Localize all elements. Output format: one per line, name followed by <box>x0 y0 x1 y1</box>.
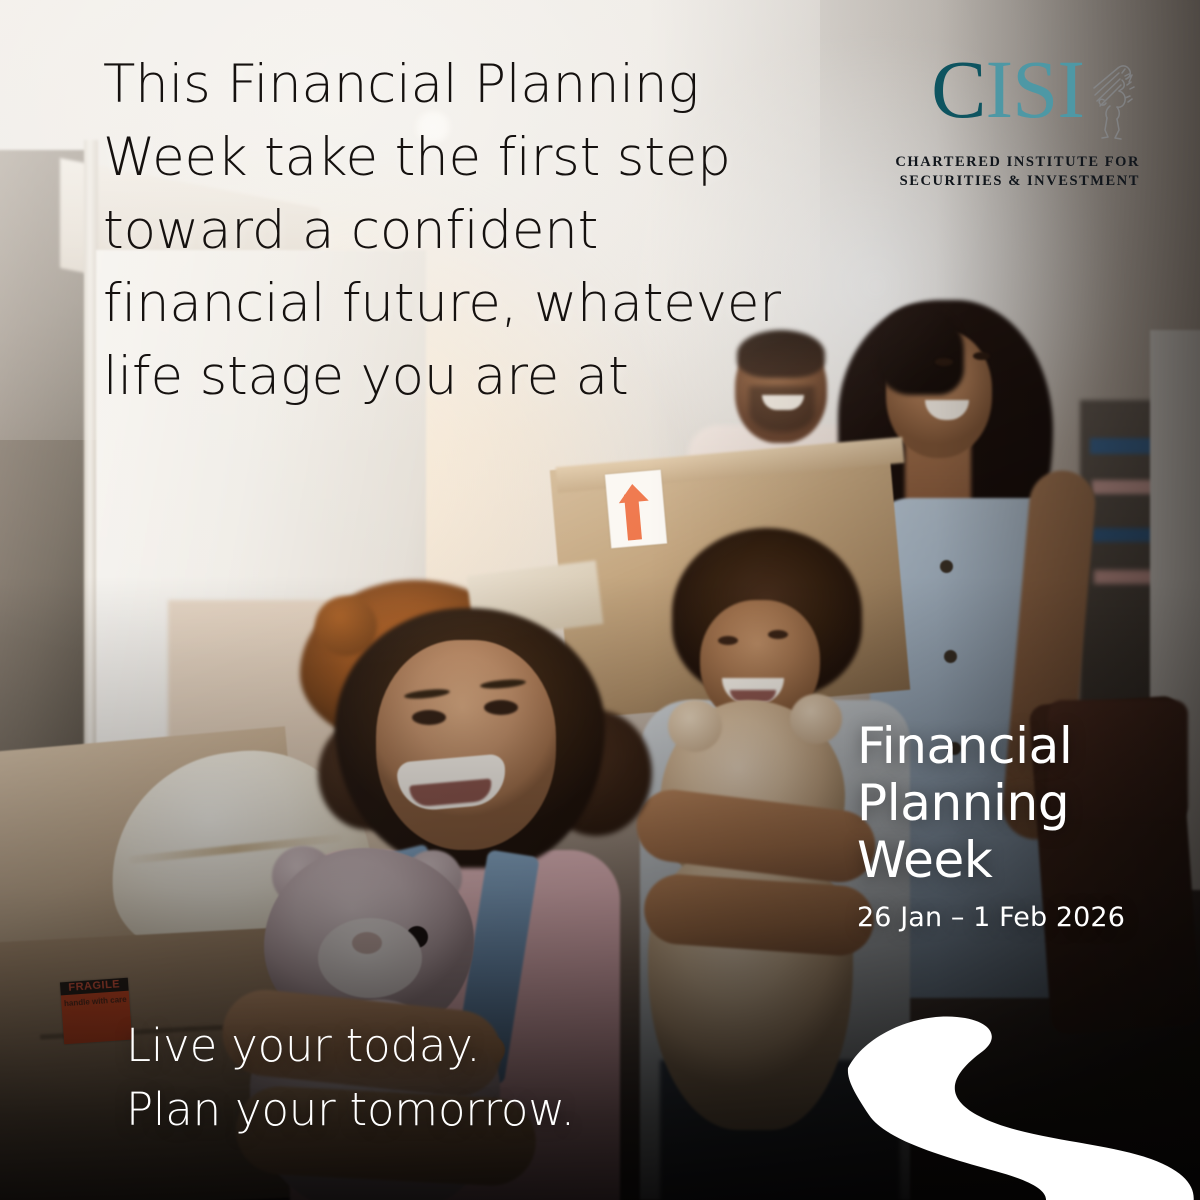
this-way-up-arrow-head-icon <box>617 483 648 504</box>
grey-teddy-muzzle <box>318 918 422 998</box>
fragile-sticker: FRAGILE handle with care <box>60 978 132 1045</box>
cisi-letter-c: C <box>931 43 985 135</box>
cisi-logo-subtitle: CHARTERED INSTITUTE FOR SECURITIES & INV… <box>840 153 1140 191</box>
cisi-letters-isi: ISI <box>986 43 1084 135</box>
headline: This Financial Planning Week take the fi… <box>103 48 803 413</box>
fragile-sticker-subtitle: handle with care <box>61 995 130 1010</box>
winding-path-icon <box>845 985 1200 1200</box>
dress-button-1 <box>940 560 953 573</box>
mother-hair-front <box>876 305 964 395</box>
girl-face <box>376 640 556 850</box>
dress-button-2 <box>944 650 957 663</box>
cisi-wordmark: CISI <box>931 50 1084 130</box>
campaign-lockup: Financial Planning Week 26 Jan – 1 Feb 2… <box>857 718 1187 934</box>
mother-eye-left <box>935 358 953 366</box>
griffin-icon <box>1092 54 1140 146</box>
girl-eye-right <box>484 700 518 715</box>
girl-eye-left <box>412 710 446 725</box>
mother-eye-right <box>973 352 990 360</box>
grey-teddy-nose <box>352 932 382 954</box>
cisi-logo[interactable]: CISI <box>840 50 1140 191</box>
tan-teddy-ear-right <box>790 694 842 744</box>
tan-teddy-ear-left <box>668 700 722 752</box>
boy-eye-right <box>768 630 788 639</box>
boy-eye-left <box>718 636 738 645</box>
campaign-title: Financial Planning Week <box>857 718 1187 889</box>
financial-planning-week-poster: FRAGILE handle with care <box>0 0 1200 1200</box>
campaign-dates: 26 Jan – 1 Feb 2026 <box>857 902 1187 934</box>
tagline: Live your today. Plan your tomorrow. <box>126 1014 746 1142</box>
